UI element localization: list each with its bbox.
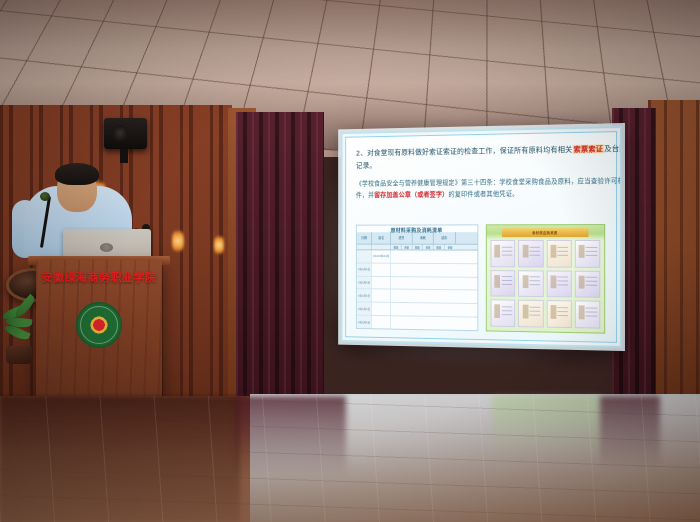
hp-logo-icon	[100, 243, 113, 252]
table-cell	[391, 277, 477, 290]
projection-screen: 2、对食堂现有原料做好索证索证的检查工作，保证所有原料均有相关索票索证及台账 记…	[341, 126, 622, 348]
table-cell	[391, 316, 477, 330]
stage-curtain-left	[236, 112, 324, 402]
table-subheader-cell	[372, 245, 391, 250]
table-cell	[391, 264, 477, 277]
table-cell: X年X月X日	[357, 303, 372, 315]
certificate-item	[546, 240, 571, 267]
wall-lamp-icon	[172, 226, 184, 256]
floor-reflection	[0, 396, 240, 522]
podium-institution-name: 安徽绿海商务职业学院	[36, 269, 162, 285]
certificate-grid	[491, 240, 601, 329]
table-row: XXXXX年XX月	[357, 250, 478, 264]
table-cell: X年X月X日	[357, 276, 372, 288]
table-subheader-cell: 金额	[423, 245, 434, 250]
wall-speaker	[104, 118, 147, 149]
certificate-item	[575, 270, 601, 298]
slide-p2-pre: 件，并	[356, 191, 374, 199]
certificate-item	[518, 240, 543, 267]
slide-p2-highlight: 留存加盖公章（或者签字）	[374, 191, 448, 199]
slide-bullet-number: 2、	[356, 149, 367, 158]
table-body: XXXXX年XX月 X年X月X日 X年X月X日	[357, 250, 478, 330]
wall-speaker-mount	[120, 149, 128, 163]
certificate-item	[575, 240, 601, 268]
table-cell	[372, 263, 391, 275]
table-subheader-cell: 数量	[434, 245, 445, 250]
floor-reflection	[236, 396, 346, 476]
table-cell	[372, 277, 391, 289]
floor-reflection	[600, 396, 660, 468]
procurement-table: 原材料采购及消耗清单 日期 品名 进货 消耗 结存 数量	[356, 224, 478, 331]
presentation-slide: 2、对食堂现有原料做好索证索证的检查工作，保证所有原料均有相关索票索证及台账 记…	[345, 131, 617, 343]
slide-p1-highlight: 索票索证	[573, 144, 605, 153]
certificate-item	[491, 270, 516, 297]
table-subheader-cell	[357, 245, 372, 250]
slide-p1-text: 对食堂现有原料做好索证索证的检查工作，保证所有原料均有相关	[367, 145, 572, 157]
floor-reflection	[492, 396, 602, 458]
supplier-credentials-board-photo: 食材供应商资质	[486, 224, 605, 334]
table-subheader-cell: 数量	[412, 245, 423, 250]
table-cell	[372, 290, 391, 302]
table-title: 原材料采购及消耗清单	[357, 226, 478, 234]
certificate-item	[491, 300, 516, 327]
table-cell	[391, 303, 477, 317]
certificate-item	[546, 270, 571, 298]
table-cell	[372, 316, 391, 329]
certificate-item	[491, 240, 516, 267]
table-subheader-cell: 金额	[445, 245, 456, 250]
table-cell	[391, 250, 477, 263]
certificate-item	[518, 270, 543, 297]
school-crest-icon	[76, 302, 122, 348]
slide-p1-tail: 及台账	[604, 144, 622, 153]
certificate-item	[546, 300, 571, 328]
table-row: X年X月X日	[357, 263, 478, 277]
certificate-item	[518, 300, 543, 328]
table-cell: X年X月X日	[357, 316, 372, 328]
table-subheader-cell: 金额	[402, 245, 413, 250]
lecture-hall-scene: 2、对食堂现有原料做好索证索证的检查工作，保证所有原料均有相关索票索证及台账 记…	[0, 0, 700, 522]
plant-pot	[6, 346, 32, 364]
table-cell: XXXXX年XX月	[372, 250, 391, 262]
table-cell: X年X月X日	[357, 263, 372, 275]
screen-surface: 2、对食堂现有原料做好索证索证的检查工作，保证所有原料均有相关索票索证及台账 记…	[341, 126, 622, 348]
table-row: X年X月X日	[357, 316, 478, 330]
board-banner-title: 食材供应商资质	[502, 228, 589, 237]
table-cell: X年X月X日	[357, 290, 372, 302]
table-cell	[357, 250, 372, 262]
table-row: X年X月X日	[357, 276, 478, 290]
table-subheader-cell: 数量	[391, 245, 402, 250]
slide-paragraph-2-line-2: 件，并留存加盖公章（或者签字）的复印件或者其他凭证。	[356, 187, 605, 201]
certificate-item	[575, 301, 601, 329]
table-cell	[391, 290, 477, 303]
slide-media-row: 原材料采购及消耗清单 日期 品名 进货 消耗 结存 数量	[356, 224, 605, 334]
microphone-icon	[40, 192, 50, 201]
speaker-hair	[55, 163, 99, 185]
wall-lamp-icon	[214, 232, 224, 258]
slide-p2-post: 的复印件或者其他凭证。	[448, 190, 518, 198]
table-cell	[372, 303, 391, 316]
